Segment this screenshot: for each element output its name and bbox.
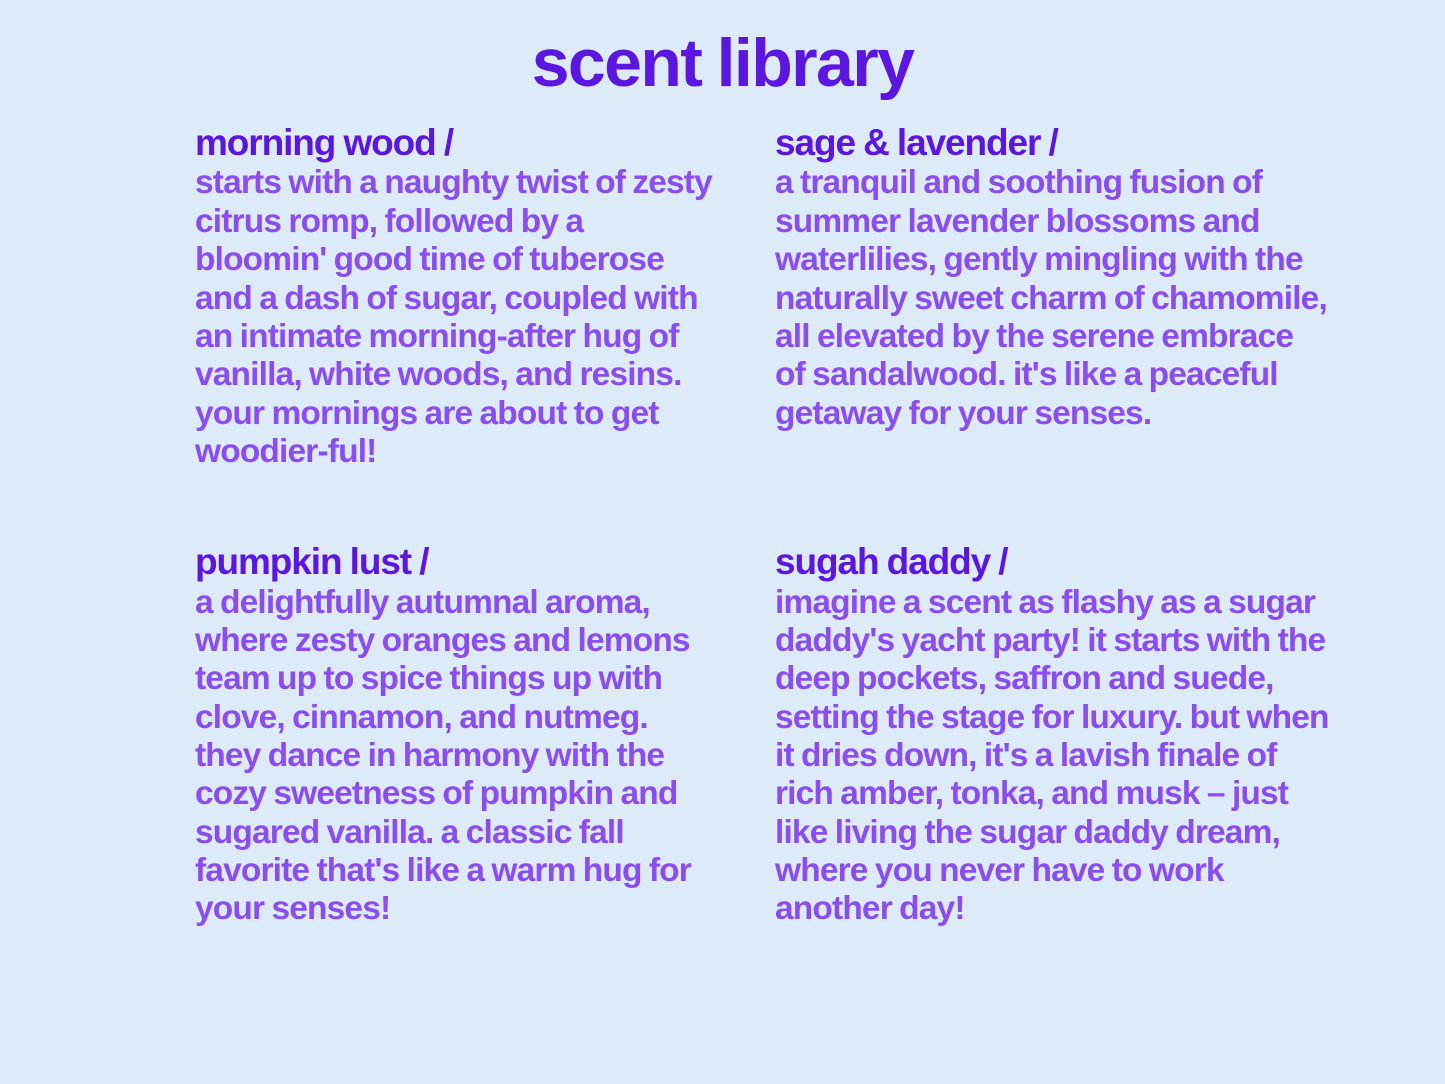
scent-description: starts with a naughty twist of zesty cit… (195, 164, 720, 471)
scent-card-morning-wood: morning wood / starts with a naughty twi… (195, 124, 720, 471)
scent-description: imagine a scent as flashy as a sugar dad… (775, 584, 1330, 929)
scent-name: morning wood / (195, 124, 720, 162)
scent-grid: morning wood / starts with a naughty twi… (195, 124, 1330, 929)
scent-library-page: scent library morning wood / starts with… (0, 0, 1445, 1084)
scent-description: a delightfully autumnal aroma, where zes… (195, 584, 720, 929)
scent-name: sage & lavender / (775, 124, 1330, 162)
scent-description: a tranquil and soothing fusion of summer… (775, 164, 1330, 432)
page-title: scent library (0, 28, 1445, 99)
scent-card-sage-and-lavender: sage & lavender / a tranquil and soothin… (775, 124, 1330, 433)
scent-name: pumpkin lust / (195, 543, 720, 581)
scent-card-pumpkin-lust: pumpkin lust / a delightfully autumnal a… (195, 543, 720, 929)
scent-card-sugah-daddy: sugah daddy / imagine a scent as flashy … (775, 543, 1330, 929)
scent-name: sugah daddy / (775, 543, 1330, 581)
